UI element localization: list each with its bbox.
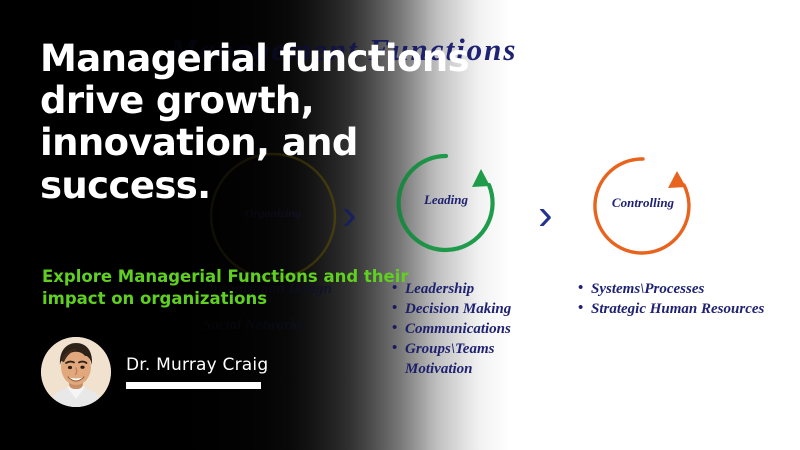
avatar-photo-icon (41, 337, 111, 407)
avatar (41, 337, 111, 407)
page-title: Managerial functions drive growth, innov… (40, 38, 470, 207)
page-subtitle: Explore Managerial Functions and their i… (42, 266, 432, 310)
author-underline-rule (126, 382, 261, 389)
author-name: Dr. Murray Craig (126, 355, 268, 375)
author-block: Dr. Murray Craig (41, 337, 268, 407)
author-text: Dr. Murray Craig (126, 355, 268, 389)
foreground-overlay: Managerial functions drive growth, innov… (0, 0, 800, 450)
slide-canvas: Management Functions Organizing Leading … (0, 0, 800, 450)
